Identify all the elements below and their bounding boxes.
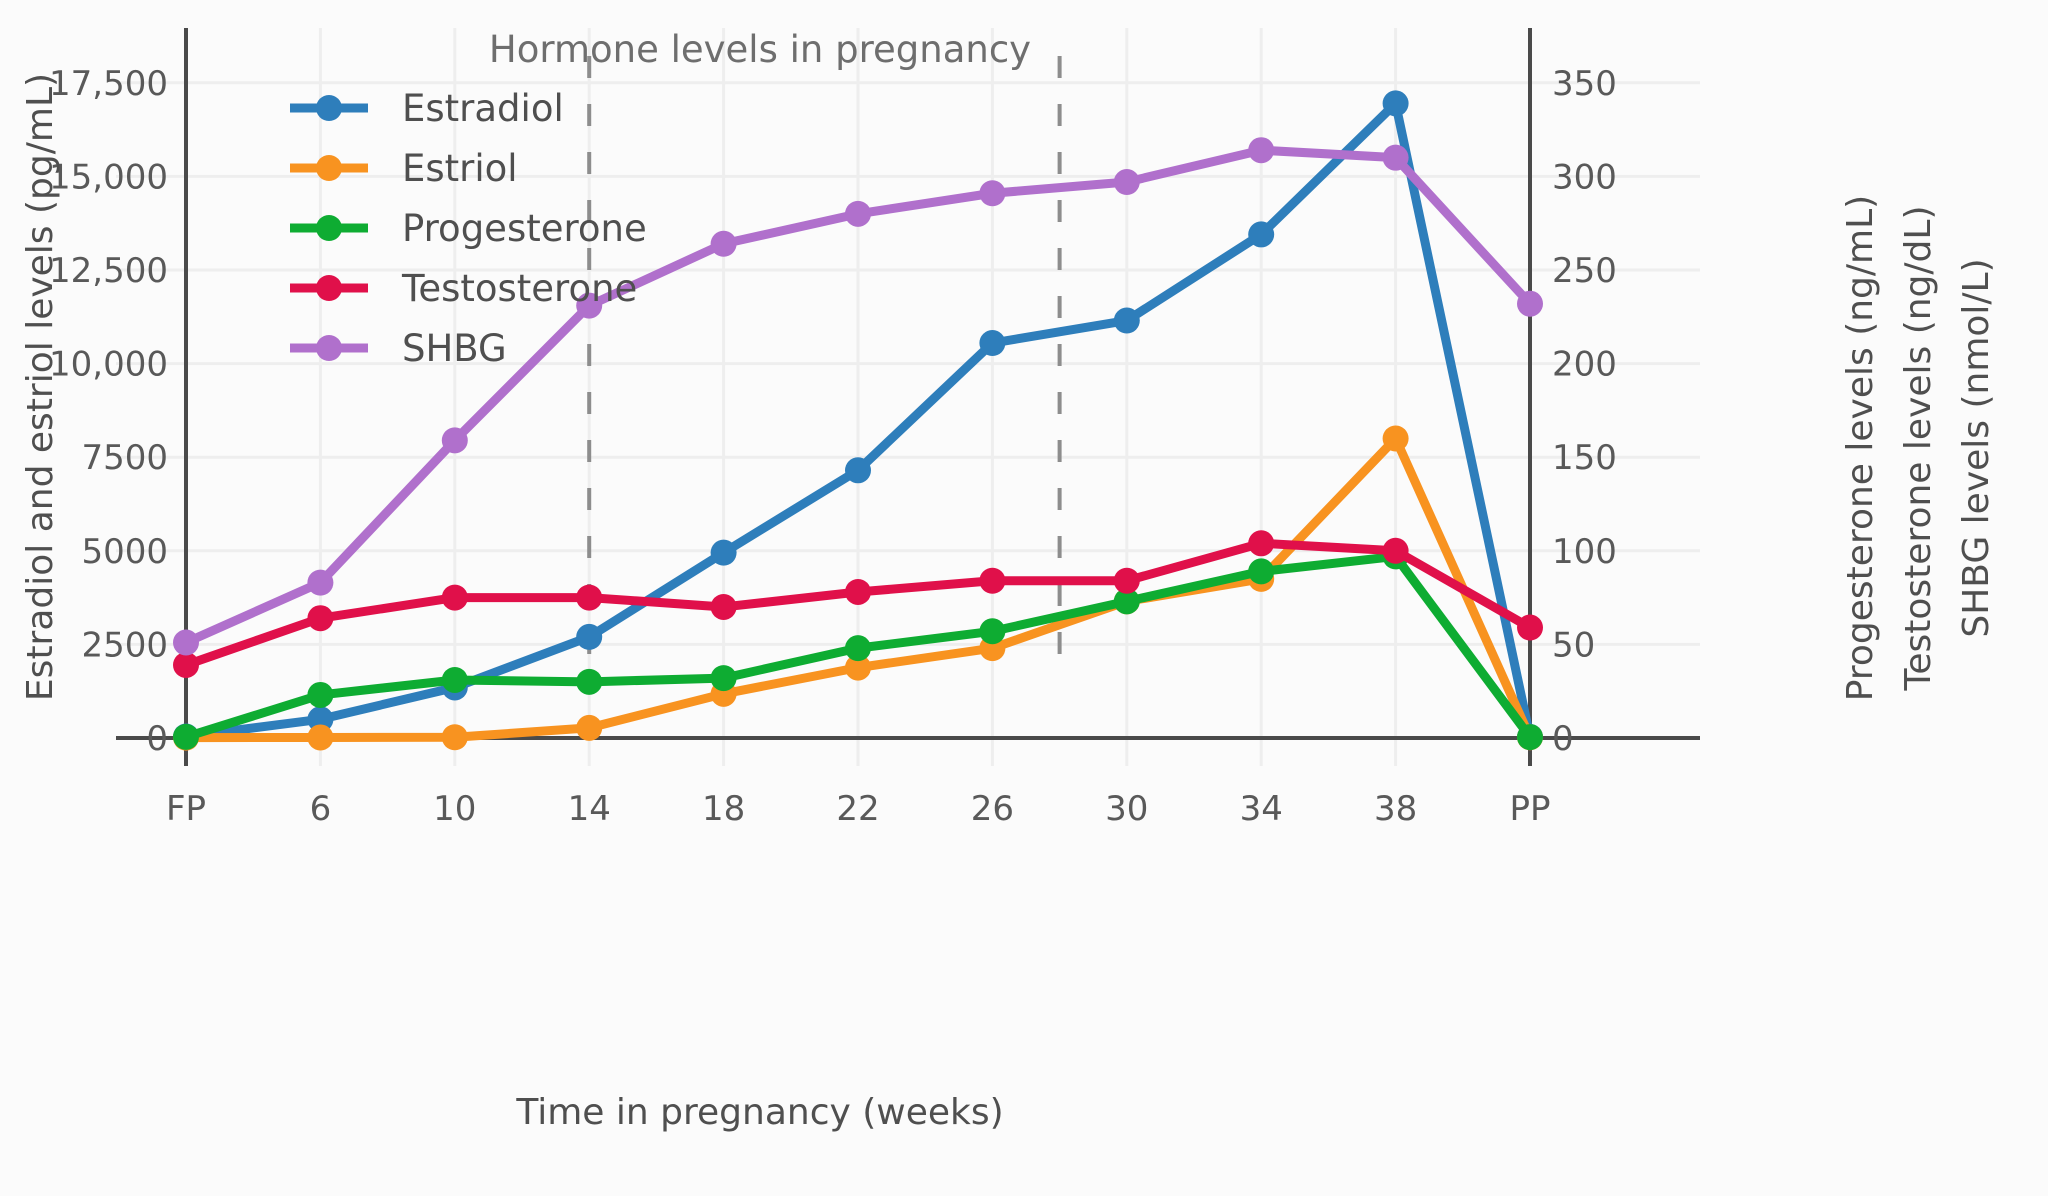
y-axis-tick-label: 7500	[81, 438, 168, 478]
x-axis-tick-label: 22	[836, 789, 879, 829]
legend-label: Progesterone	[402, 207, 647, 250]
data-point-marker	[711, 231, 737, 257]
x-axis-tick-label: FP	[166, 789, 206, 829]
data-point-marker	[442, 667, 468, 693]
data-point-marker	[442, 724, 468, 750]
data-point-marker	[845, 579, 871, 605]
data-point-marker	[576, 624, 602, 650]
y-axis-tick-label: 5000	[81, 532, 168, 572]
legend-swatch-marker	[316, 95, 342, 121]
y-axis-tick-label: 12,500	[49, 251, 168, 291]
x-axis-tick-label: 6	[310, 789, 332, 829]
legend-label: SHBG	[402, 327, 507, 370]
data-point-marker	[1517, 724, 1543, 750]
data-point-marker	[307, 570, 333, 596]
data-point-marker	[576, 585, 602, 611]
data-point-marker	[979, 618, 1005, 644]
chart-figure: 025005000750010,00012,50015,00017,500050…	[0, 0, 2048, 1196]
data-point-marker	[576, 715, 602, 741]
data-point-marker	[845, 635, 871, 661]
data-point-marker	[711, 594, 737, 620]
data-point-marker	[1383, 145, 1409, 171]
legend-label: Estradiol	[402, 87, 564, 130]
x-axis-tick-label: PP	[1509, 789, 1550, 829]
data-point-marker	[979, 180, 1005, 206]
legend-swatch-marker	[316, 335, 342, 361]
legend-label: Testosterone	[401, 267, 637, 310]
y-axis-tick-label: 17,500	[49, 64, 168, 104]
data-point-marker	[1248, 558, 1274, 584]
x-axis-tick-label: 38	[1374, 789, 1417, 829]
data-point-marker	[979, 568, 1005, 594]
data-point-marker	[845, 201, 871, 227]
y2-axis-title-shbg: SHBG levels (nmol/L)	[1956, 258, 1997, 637]
data-point-marker	[1383, 425, 1409, 451]
y-axis-tick-label: 10,000	[49, 345, 168, 385]
data-point-marker	[1114, 308, 1140, 334]
data-point-marker	[307, 605, 333, 631]
data-point-marker	[1114, 568, 1140, 594]
x-axis-tick-label: 34	[1240, 789, 1283, 829]
data-point-marker	[1383, 538, 1409, 564]
y2-axis-tick-label: 200	[1552, 345, 1617, 385]
data-point-marker	[442, 427, 468, 453]
y2-axis-tick-label: 350	[1552, 64, 1617, 104]
data-point-marker	[576, 669, 602, 695]
data-point-marker	[1248, 137, 1274, 163]
data-point-marker	[307, 682, 333, 708]
x-axis-tick-label: 26	[971, 789, 1014, 829]
y2-axis-title-progesterone: Progesterone levels (ng/mL)	[1840, 195, 1881, 701]
y-axis-tick-label: 2500	[81, 625, 168, 665]
chart-title: Hormone levels in pregnancy	[489, 28, 1031, 71]
legend-swatch-marker	[316, 215, 342, 241]
y2-axis-title-testosterone: Testosterone levels (ng/dL)	[1898, 206, 1939, 692]
chart-background	[0, 0, 2048, 1196]
data-point-marker	[1114, 169, 1140, 195]
data-point-marker	[1248, 221, 1274, 247]
x-axis-tick-label: 18	[702, 789, 745, 829]
y-axis-tick-label: 0	[146, 719, 168, 759]
hormone-levels-line-chart: 025005000750010,00012,50015,00017,500050…	[0, 0, 2048, 1196]
legend-swatch-marker	[316, 275, 342, 301]
data-point-marker	[173, 630, 199, 656]
data-point-marker	[711, 540, 737, 566]
legend-label: Estriol	[402, 147, 518, 190]
data-point-marker	[1383, 90, 1409, 116]
y2-axis-tick-label: 150	[1552, 438, 1617, 478]
data-point-marker	[307, 724, 333, 750]
y-axis-title: Estradiol and estriol levels (pg/mL)	[20, 73, 61, 701]
y-axis-tick-label: 15,000	[49, 157, 168, 197]
y2-axis-tick-label: 300	[1552, 157, 1617, 197]
data-point-marker	[845, 457, 871, 483]
data-point-marker	[1248, 530, 1274, 556]
y2-axis-tick-label: 0	[1552, 719, 1574, 759]
y2-axis-tick-label: 250	[1552, 251, 1617, 291]
data-point-marker	[979, 330, 1005, 356]
data-point-marker	[1517, 291, 1543, 317]
x-axis-title: Time in pregnancy (weeks)	[515, 1092, 1003, 1133]
data-point-marker	[711, 665, 737, 691]
y2-axis-tick-label: 50	[1552, 625, 1595, 665]
data-point-marker	[442, 585, 468, 611]
x-axis-tick-label: 14	[568, 789, 611, 829]
data-point-marker	[1517, 615, 1543, 641]
data-point-marker	[173, 652, 199, 678]
x-axis-tick-label: 10	[433, 789, 476, 829]
y2-axis-tick-label: 100	[1552, 532, 1617, 572]
data-point-marker	[173, 724, 199, 750]
legend-swatch-marker	[316, 155, 342, 181]
x-axis-tick-label: 30	[1105, 789, 1148, 829]
